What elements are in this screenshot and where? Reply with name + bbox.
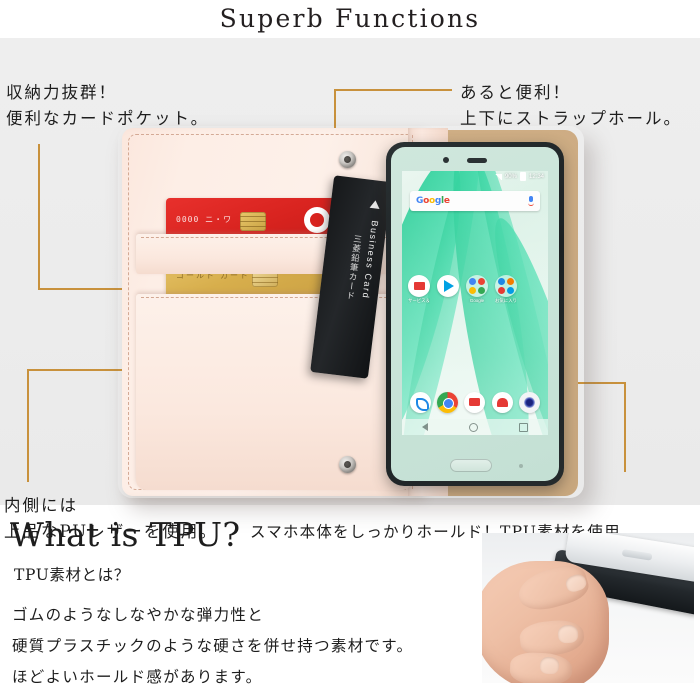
earpiece-speaker bbox=[467, 158, 487, 163]
app-label-google: Google bbox=[466, 298, 488, 303]
credit-card-brand-icon bbox=[304, 207, 330, 233]
tpu-body-line-1: ゴムのようなしなやかな弾力性と bbox=[12, 600, 442, 631]
business-card-label: Business Card bbox=[360, 220, 380, 300]
strap-hole-grommet-bottom bbox=[339, 456, 356, 473]
microphone-icon[interactable] bbox=[528, 196, 534, 206]
home-key[interactable] bbox=[450, 459, 492, 472]
annotation-card-pocket: 収納力抜群！ 便利なカードポケット。 bbox=[6, 80, 209, 132]
product-photo-band: 収納力抜群！ 便利なカードポケット。 あると便利！ 上下にストラップホール。 内… bbox=[0, 38, 700, 505]
smartphone: 90% 12:34 Google bbox=[386, 142, 564, 486]
business-card-logo-icon bbox=[370, 200, 381, 209]
annotation-strap-hole-line1: あると便利！ bbox=[460, 80, 682, 106]
dock-icon-chrome[interactable] bbox=[437, 392, 458, 413]
status-time: 12:34 bbox=[529, 174, 544, 180]
phone-front-face: 90% 12:34 Google bbox=[391, 147, 559, 481]
dock bbox=[407, 392, 543, 413]
dock-icon-mail[interactable] bbox=[492, 392, 513, 413]
credit-card-chip-icon bbox=[240, 212, 266, 231]
app-grid: サービス＆アプリ Google bbox=[408, 275, 542, 304]
sensor-dot bbox=[519, 464, 523, 468]
app-folder-google[interactable] bbox=[466, 275, 488, 297]
tpu-body-line-3: ほどよいホールド感があります。 bbox=[12, 662, 442, 693]
app-icon-services[interactable] bbox=[408, 275, 430, 297]
back-icon[interactable] bbox=[422, 423, 428, 431]
fingernail-ring bbox=[539, 656, 559, 674]
dock-icon-camera[interactable] bbox=[519, 392, 540, 413]
recents-icon[interactable] bbox=[519, 423, 528, 432]
app-label-favorites: お気に入り bbox=[495, 298, 517, 304]
product-infographic: Superb Functions 収納力抜群！ 便利なカードポケット。 あると便… bbox=[0, 0, 700, 700]
app-icon-play-store[interactable] bbox=[437, 275, 459, 297]
battery-percent: 90% bbox=[505, 174, 517, 180]
volume-button bbox=[622, 549, 653, 561]
battery-icon bbox=[520, 172, 526, 181]
dock-icon-messages[interactable] bbox=[464, 392, 485, 413]
leader-line-pu-leather-vertical bbox=[27, 369, 29, 482]
leader-line-tpu-hold-vertical bbox=[624, 382, 626, 472]
business-card-jp-label: 三菱鉛筆カード bbox=[343, 234, 363, 301]
phone-screen: 90% 12:34 Google bbox=[402, 171, 548, 435]
strap-hole-grommet-top bbox=[339, 151, 356, 168]
annotation-card-pocket-line1: 収納力抜群！ bbox=[6, 80, 209, 106]
tpu-flex-demo-photo bbox=[482, 533, 694, 683]
front-camera-icon bbox=[443, 157, 449, 163]
tpu-body-text: ゴムのようなしなやかな弾力性と 硬質プラスチックのような硬さを併せ持つ素材です。… bbox=[12, 600, 442, 693]
status-bar: 90% 12:34 bbox=[402, 171, 548, 182]
tpu-body-line-2: 硬質プラスチックのような硬さを併せ持つ素材です。 bbox=[12, 631, 442, 662]
google-logo: Google bbox=[416, 196, 450, 206]
credit-card-red-number: 0000 ニ・ワ bbox=[176, 214, 232, 225]
navigation-bar bbox=[402, 419, 548, 435]
page-title: Superb Functions bbox=[0, 4, 700, 33]
leader-line-strap-hole-horizontal bbox=[334, 89, 452, 91]
tpu-subtitle: TPU素材とは？ bbox=[14, 563, 130, 585]
annotation-strap-hole: あると便利！ 上下にストラップホール。 bbox=[460, 80, 682, 132]
dock-icon-phone[interactable] bbox=[410, 392, 431, 413]
google-search-bar[interactable]: Google bbox=[410, 191, 540, 211]
signal-icon bbox=[495, 174, 502, 180]
app-row-1: サービス＆アプリ Google bbox=[408, 275, 542, 304]
leader-line-card-pocket-vertical bbox=[38, 144, 40, 290]
home-icon[interactable] bbox=[469, 423, 478, 432]
hand bbox=[482, 561, 609, 683]
fingernail-middle bbox=[557, 624, 578, 643]
app-label-services: サービス＆アプリ bbox=[408, 298, 430, 304]
tpu-title: What is TPU? bbox=[10, 515, 241, 554]
app-folder-favorites[interactable] bbox=[495, 275, 517, 297]
